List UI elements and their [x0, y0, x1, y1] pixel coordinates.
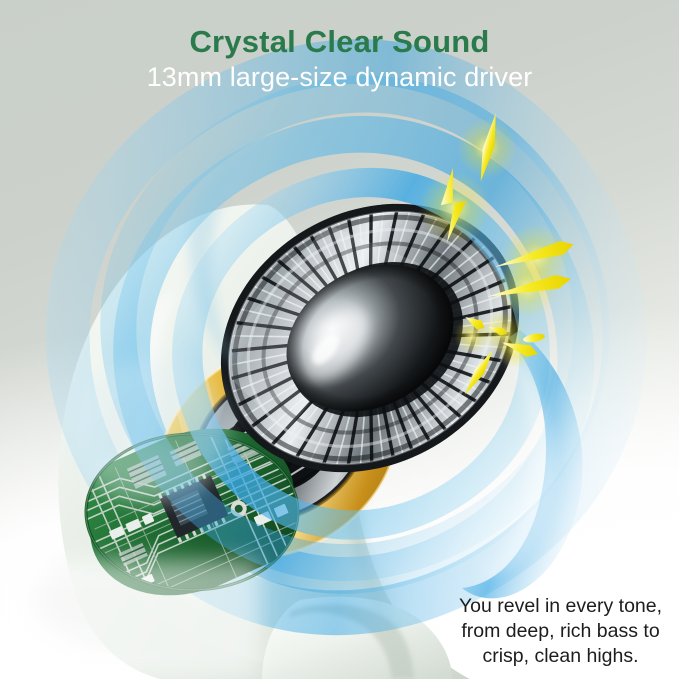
page-subtitle: 13mm large-size dynamic driver	[0, 62, 679, 93]
caption-line-2: from deep, rich bass to	[421, 619, 679, 644]
feature-graphic: Crystal Clear Sound 13mm large-size dyna…	[0, 0, 679, 679]
product-illustration	[0, 0, 679, 679]
feature-caption: You revel in every tone, from deep, rich…	[421, 594, 679, 669]
page-title: Crystal Clear Sound	[0, 24, 679, 60]
caption-line-1: You revel in every tone,	[421, 594, 679, 619]
caption-line-3: crisp, clean highs.	[421, 644, 679, 669]
